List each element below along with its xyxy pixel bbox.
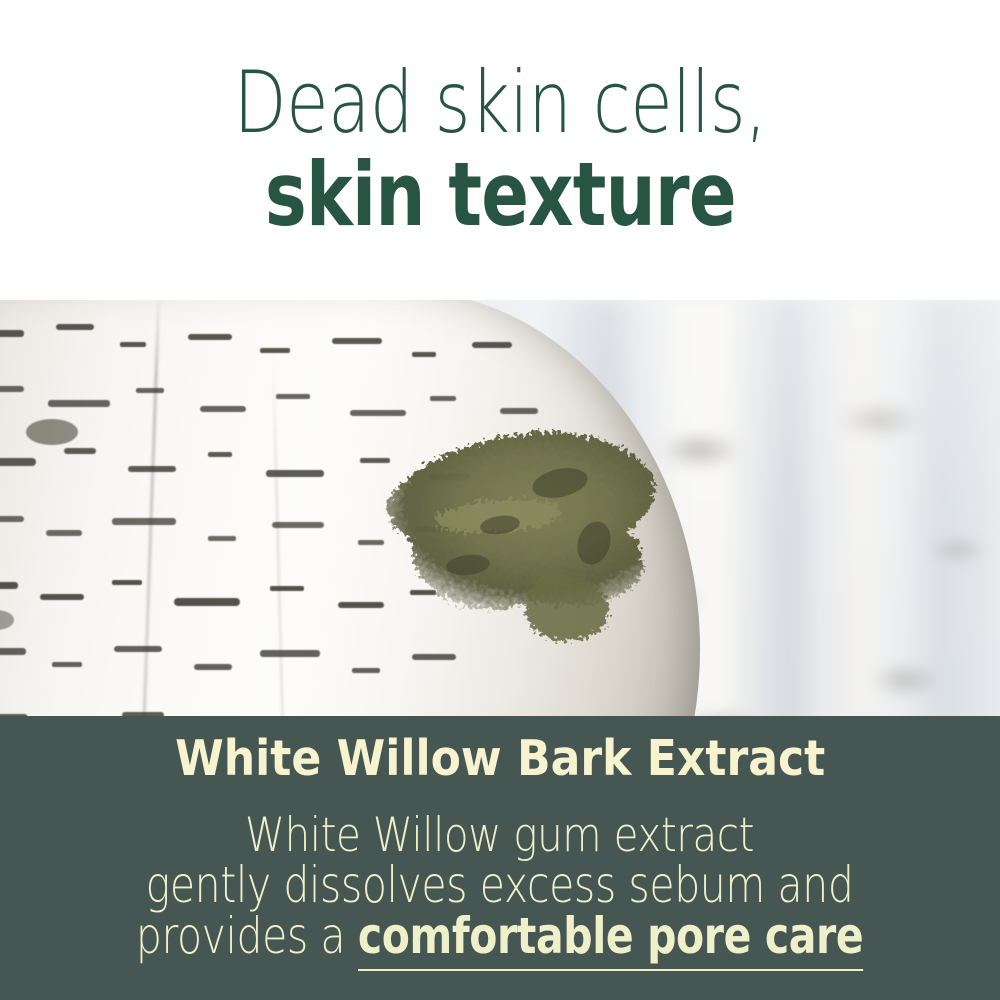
description-highlight: comfortable pore care [358, 907, 863, 971]
moss-lichen-patch [350, 375, 680, 705]
headline-line-2: skin texture [265, 150, 736, 240]
description-line-2: gently dissolves excess sebum and [136, 861, 863, 910]
product-ingredient-banner: Dead skin cells, skin texture [0, 0, 1000, 1000]
description-line-3: provides a comfortable pore care [136, 912, 863, 961]
description-line-3-lead: provides a [136, 907, 358, 965]
description-line-1: White Willow gum extract [119, 813, 882, 859]
headline-block: Dead skin cells, skin texture [0, 0, 1000, 300]
ingredient-description: White Willow gum extract gently dissolve… [56, 813, 943, 961]
headline-line-1: Dead skin cells, [233, 60, 766, 148]
ingredient-overlay-panel: White Willow Bark Extract White Willow g… [0, 716, 1000, 1000]
panel-text-group: White Willow Bark Extract White Willow g… [0, 716, 1000, 1000]
ingredient-title: White Willow Bark Extract [175, 734, 825, 783]
